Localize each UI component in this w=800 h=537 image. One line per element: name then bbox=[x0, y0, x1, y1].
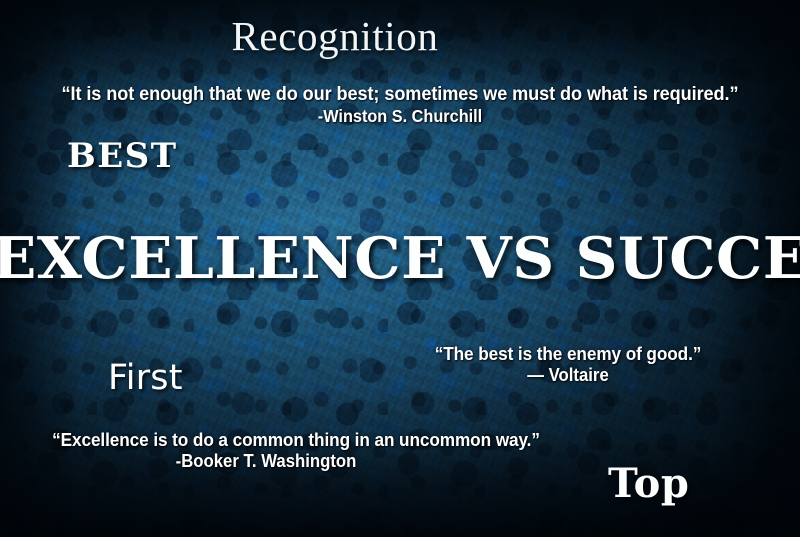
booker-quote-attribution: -Booker T. Washington bbox=[52, 452, 480, 471]
keyword-first: First bbox=[108, 360, 183, 398]
keyword-top: Top bbox=[608, 462, 689, 505]
keyword-best: BEST bbox=[67, 138, 178, 175]
booker-quote-block: “Excellence is to do a common thing in a… bbox=[36, 430, 496, 471]
voltaire-quote-attribution: — Voltaire bbox=[410, 366, 726, 385]
main-headline: EXCELLENCE VS SUCCESS bbox=[0, 228, 800, 290]
voltaire-quote-text: “The best is the enemy of good.” bbox=[410, 344, 726, 364]
recognition-heading: Recognition bbox=[0, 14, 800, 58]
churchill-quote-block: “It is not enough that we do our best; s… bbox=[0, 84, 800, 126]
text-layer: Recognition “It is not enough that we do… bbox=[0, 0, 800, 537]
voltaire-quote-block: “The best is the enemy of good.” — Volta… bbox=[398, 344, 738, 385]
churchill-quote-text: “It is not enough that we do our best; s… bbox=[28, 84, 772, 105]
booker-quote-text: “Excellence is to do a common thing in a… bbox=[52, 430, 480, 450]
poster-canvas: Recognition “It is not enough that we do… bbox=[0, 0, 800, 537]
churchill-quote-attribution: -Winston S. Churchill bbox=[28, 107, 772, 126]
